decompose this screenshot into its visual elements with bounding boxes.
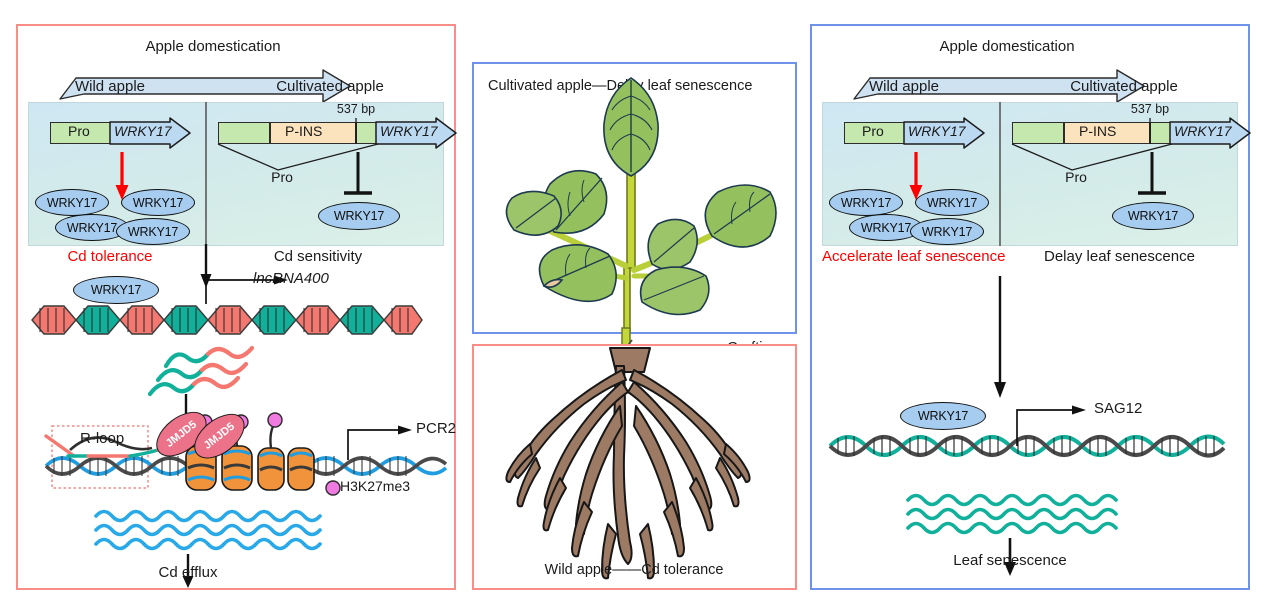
cultivated-promoter-box-left [218,122,270,144]
wild-wrky17-protein-right-4: WRKY17 [910,218,984,245]
wrky-label: WRKY17 [334,209,384,223]
wrky-label: WRKY17 [91,283,141,297]
cd-sensitivity-label: Cd sensitivity [274,248,362,265]
figure-canvas: Apple domestication Wild apple Cultivate… [0,0,1267,604]
pcr2-label: PCR2 [416,420,456,437]
cultivated-wrky17-protein-right: WRKY17 [1112,202,1194,230]
p-ins-label: P-INS [285,123,322,139]
cd-efflux-waves-icon [18,504,458,564]
right-panel-leaf-senescence: Apple domestication Wild apple Cultivate… [810,24,1250,590]
domestication-label: Apple domestication [145,38,280,55]
wild-promoter-label: Pro [68,123,90,139]
delay-senescence-label: Delay leaf senescence [1044,248,1195,265]
apple-plant-illustration [474,64,799,336]
cultivated-promoter-label: Pro [271,169,293,185]
leaf-senescence-label: Leaf senescence [953,552,1066,569]
sag12-tf-wrky17: WRKY17 [900,402,986,430]
wrky-label: WRKY17 [841,196,891,210]
wrky-label: WRKY17 [1128,209,1178,223]
wild-wrky17-protein-1: WRKY17 [35,189,109,216]
cultivated-promoter-box-right [356,122,378,144]
wild-wrky17-protein-4: WRKY17 [116,218,190,245]
wild-apple-label: Wild apple [75,78,145,95]
lncrna-transcripts-icon [18,340,458,410]
cultivated-gene-label: WRKY17 [380,123,438,139]
h3k27me3-legend-label: H3K27me3 [340,478,410,494]
cultivated-wrky17-protein: WRKY17 [318,202,400,230]
wrky-label: WRKY17 [918,409,968,423]
cultivated-promoter-label-right: Pro [1065,169,1087,185]
sag12-label: SAG12 [1094,400,1142,417]
cd-tolerance-label: Cd tolerance [67,248,152,265]
cd-efflux-label: Cd efflux [159,564,218,581]
cultivated-apple-label-right: Cultivated apple [1070,78,1178,95]
wild-gene-label: WRKY17 [114,123,172,139]
center-top-panel-scion: Cultivated apple—Delay leaf senescence [472,62,797,334]
wild-apple-label-right: Wild apple [869,78,939,95]
wrky-label: WRKY17 [47,196,97,210]
senescence-waves-icon [812,488,1252,548]
wrky-label: WRKY17 [67,221,117,235]
wrky-label: WRKY17 [133,196,183,210]
p-ins-label-right: P-INS [1079,123,1116,139]
rootstock-caption: Wild apple——Cd tolerance [545,562,724,578]
cultivated-gene-label-right: WRKY17 [1174,123,1232,139]
r-loop-label: R-loop [80,430,124,447]
center-bottom-panel-rootstock: Wild apple——Cd tolerance [472,344,797,590]
sag12-dna-helix [812,412,1252,492]
left-panel-cd-tolerance: Apple domestication Wild apple Cultivate… [16,24,456,590]
insert-size-label-right: 537 bp [1131,102,1169,116]
jmjd5-label: JMJD5 [202,421,237,452]
cultivated-promoter-box-right-right [1150,122,1172,144]
wild-wrky17-protein-right-1: WRKY17 [829,189,903,216]
cultivated-promoter-box-left-right [1012,122,1064,144]
lncrna-tf-wrky17: WRKY17 [73,276,159,304]
cultivated-apple-label: Cultivated apple [276,78,384,95]
flow-arrow-right [812,276,1252,406]
wrky-label: WRKY17 [922,225,972,239]
flow-arrow-3 [18,554,458,594]
wrky-label: WRKY17 [861,221,911,235]
insert-size-label: 537 bp [337,102,375,116]
apple-root-illustration [474,346,799,592]
wild-gene-label-right: WRKY17 [908,123,966,139]
wrky-label: WRKY17 [927,196,977,210]
domestication-label-right: Apple domestication [939,38,1074,55]
wild-wrky17-protein-2: WRKY17 [121,189,195,216]
accelerate-senescence-label: Accelerate leaf senescence [822,248,1005,265]
scion-caption: Cultivated apple—Delay leaf senescence [488,78,752,94]
wild-promoter-label-right: Pro [862,123,884,139]
lncrna400-label: lncRNA400 [253,270,329,287]
wild-wrky17-protein-right-2: WRKY17 [915,189,989,216]
wrky-label: WRKY17 [128,225,178,239]
